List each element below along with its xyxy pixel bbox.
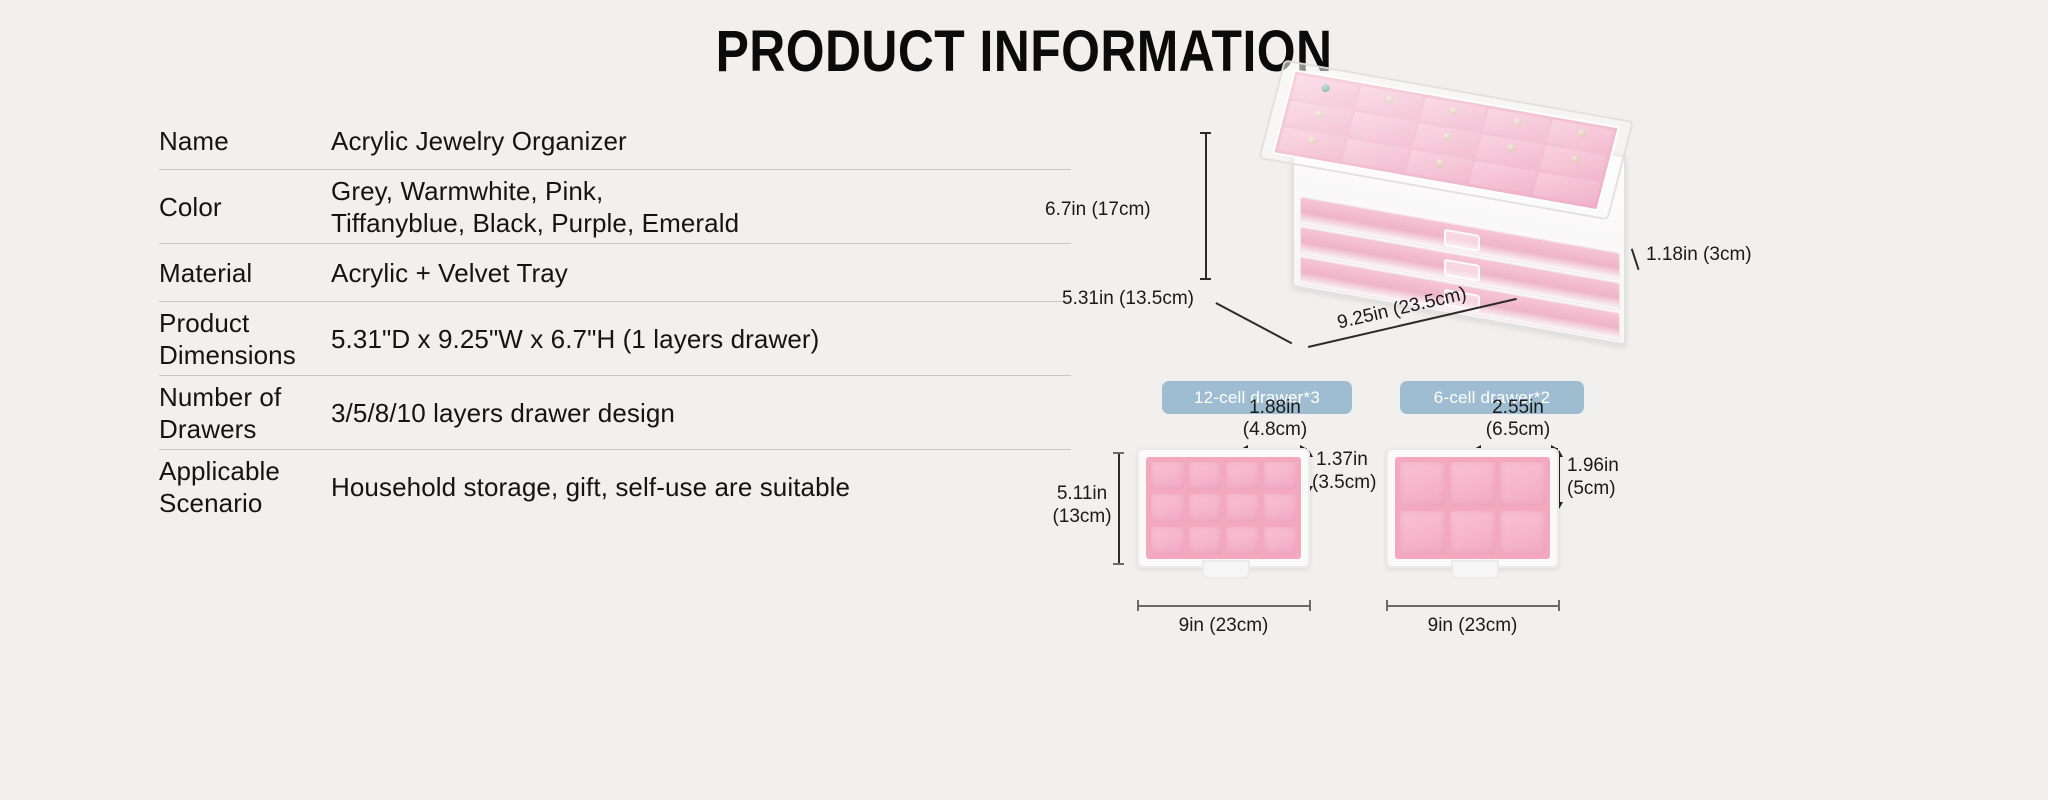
tray2-cell-width-label-line1: 2.55in	[1475, 396, 1561, 419]
spec-label-number-of-drawers-line1: Number of	[159, 382, 281, 412]
spec-value-color-line1: Grey, Warmwhite, Pink,	[331, 175, 1071, 207]
tray1-height-label-line1: 5.11in	[1050, 482, 1114, 505]
tray-cell	[1400, 462, 1445, 506]
spec-value-material: Acrylic + Velvet Tray	[331, 257, 1071, 289]
spec-label-number-of-drawers: Number of Drawers	[159, 381, 331, 445]
tray1-height-label-line2: (13cm)	[1050, 505, 1114, 528]
tray1-cell-width-label-line2: (4.8cm)	[1235, 418, 1315, 441]
spec-label-product-dimensions-line2: Dimensions	[159, 340, 296, 370]
tray-cell	[1500, 462, 1545, 506]
tray-cell	[1450, 511, 1495, 555]
page-title: PRODUCT INFORMATION	[143, 17, 1904, 87]
table-row: Name Acrylic Jewelry Organizer	[159, 112, 1071, 170]
tray2-cell-width-label-line2: (6.5cm)	[1475, 418, 1561, 441]
hero-height-dimension-line	[1205, 132, 1207, 278]
tray1-height-cap-top	[1113, 452, 1124, 454]
table-row: Color Grey, Warmwhite, Pink, Tiffanyblue…	[159, 170, 1071, 244]
spec-label-applicable-scenario: Applicable Scenario	[159, 455, 331, 519]
hero-drawer-height-dimension-line	[1631, 249, 1639, 270]
tray2-width-cap-left	[1386, 600, 1388, 611]
tray-6-cell-grid	[1395, 457, 1550, 559]
tray1-width-dimension-line	[1137, 605, 1310, 607]
tray-cell	[1151, 494, 1184, 521]
table-row: Material Acrylic + Velvet Tray	[159, 244, 1071, 302]
tray-cell	[1400, 511, 1445, 555]
table-row: Applicable Scenario Household storage, g…	[159, 450, 1071, 524]
tray-12-cell	[1137, 448, 1310, 568]
hero-height-tick-top	[1200, 132, 1211, 134]
hero-depth-label: 5.31in (13.5cm)	[1062, 287, 1194, 311]
tray-handle-knob	[1202, 560, 1250, 579]
spec-label-applicable-scenario-line1: Applicable	[159, 456, 280, 486]
hero-height-tick-bottom	[1200, 278, 1211, 280]
tray1-width-label: 9in (23cm)	[1137, 614, 1310, 637]
tray-cell	[1450, 462, 1495, 506]
tray-6-cell	[1386, 448, 1559, 568]
spec-label-number-of-drawers-line2: Drawers	[159, 414, 257, 444]
tray-cell	[1189, 462, 1222, 489]
spec-label-material: Material	[159, 257, 331, 289]
product-image-panel: 6.7in (17cm)	[1080, 90, 2030, 790]
tray-12-cell-grid	[1146, 457, 1301, 559]
tray1-height-dimension-line	[1118, 452, 1120, 564]
spec-label-product-dimensions: Product Dimensions	[159, 307, 331, 371]
spec-value-name: Acrylic Jewelry Organizer	[331, 125, 1071, 157]
tray-cell	[1226, 494, 1259, 521]
table-row: Number of Drawers 3/5/8/10 layers drawer…	[159, 376, 1071, 450]
spec-label-product-dimensions-line1: Product	[159, 308, 249, 338]
spec-value-color: Grey, Warmwhite, Pink, Tiffanyblue, Blac…	[331, 175, 1071, 239]
tray-cell	[1189, 527, 1222, 554]
tray2-cell-height-label-line1: 1.96in	[1567, 454, 1619, 477]
spec-value-product-dimensions: 5.31"D x 9.25"W x 6.7"H (1 layers drawer…	[331, 323, 1071, 355]
hero-depth-dimension-line	[1216, 302, 1293, 344]
tray-cell	[1151, 462, 1184, 489]
hero-product-image: 6.7in (17cm)	[1080, 90, 2030, 390]
spec-value-color-line2: Tiffanyblue, Black, Purple, Emerald	[331, 207, 1071, 239]
tray-cell	[1226, 527, 1259, 554]
spec-label-color: Color	[159, 191, 331, 223]
tray2-width-cap-right	[1558, 600, 1560, 611]
spec-label-applicable-scenario-line2: Scenario	[159, 488, 262, 518]
tray2-cell-height-label-line2: (5cm)	[1567, 477, 1616, 500]
specification-table: Name Acrylic Jewelry Organizer Color Gre…	[159, 112, 1071, 524]
tray1-width-cap-right	[1309, 600, 1311, 611]
spec-label-name: Name	[159, 125, 331, 157]
hero-drawer-height-label: 1.18in (3cm)	[1646, 243, 1752, 267]
tray1-width-cap-left	[1137, 600, 1139, 611]
tray-cell	[1500, 511, 1545, 555]
table-row: Product Dimensions 5.31"D x 9.25"W x 6.7…	[159, 302, 1071, 376]
tray2-width-dimension-line	[1386, 605, 1559, 607]
tray-cell	[1264, 527, 1297, 554]
tray-cell	[1151, 527, 1184, 554]
tray-cell	[1264, 462, 1297, 489]
spec-value-applicable-scenario: Household storage, gift, self-use are su…	[331, 471, 1071, 503]
hero-height-label: 6.7in (17cm)	[1045, 198, 1151, 222]
tray2-width-label: 9in (23cm)	[1386, 614, 1559, 637]
tray1-cell-width-label-line1: 1.88in	[1235, 396, 1315, 419]
tray-handle-knob	[1451, 560, 1499, 579]
tray-cell	[1226, 462, 1259, 489]
spec-value-number-of-drawers: 3/5/8/10 layers drawer design	[331, 397, 1071, 429]
tray1-height-cap-bottom	[1113, 563, 1124, 565]
tray-cell	[1264, 494, 1297, 521]
tray-cell	[1189, 494, 1222, 521]
tray-6-cell-group: 2.55in (6.5cm) 1.96in (5cm) 9in (23c	[1320, 420, 1640, 700]
